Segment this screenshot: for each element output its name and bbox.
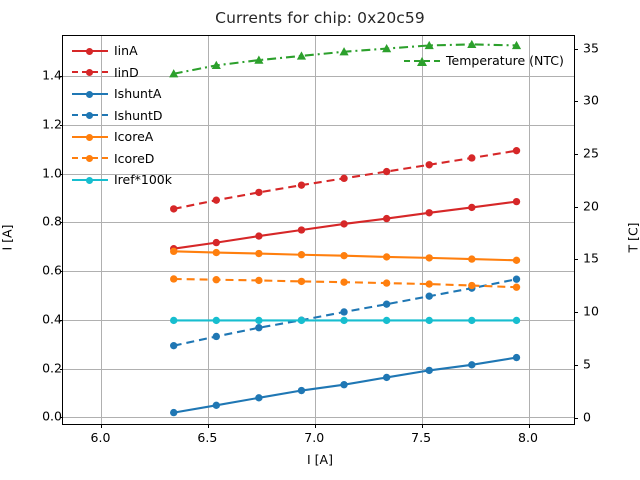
legend-item-label: Iref*100k [114, 172, 172, 187]
data-point [468, 282, 475, 289]
legend-swatch-icon [72, 66, 108, 78]
data-point [255, 250, 262, 257]
y-ticklabel-left: 1.0 [42, 165, 62, 180]
y-ticklabel-left: 0.4 [42, 311, 62, 326]
x-tick [315, 424, 316, 428]
y-ticklabel-right: 25 [583, 146, 599, 161]
matplotlib-figure: Currents for chip: 0x20c59 0.00.20.40.60… [0, 0, 640, 480]
legend-currents: IinAIinDIshuntAIshuntDIcoreAIcoreDIref*1… [72, 40, 172, 191]
data-point [383, 317, 390, 324]
x-axis-title: I [A] [0, 452, 640, 467]
data-point [213, 249, 220, 256]
y-tick-right [574, 49, 578, 50]
y-tick-right [574, 207, 578, 208]
data-point [298, 251, 305, 258]
y-axis-title-right: T [C] [626, 158, 640, 318]
data-point [383, 168, 390, 175]
y-tick-right [574, 154, 578, 155]
data-point [298, 181, 305, 188]
data-point [468, 317, 475, 324]
legend-item-iina[interactable]: IinA [72, 40, 172, 62]
y-ticklabel-left: 0.0 [42, 409, 62, 424]
y-ticklabel-left: 0.6 [42, 263, 62, 278]
x-tick [529, 424, 530, 428]
data-point [170, 275, 177, 282]
data-point [298, 226, 305, 233]
data-point [255, 394, 262, 401]
legend-item-label: IshuntA [114, 86, 161, 101]
data-point [255, 317, 262, 324]
data-point [426, 293, 433, 300]
data-point [170, 342, 177, 349]
data-point [513, 147, 520, 154]
data-point [468, 361, 475, 368]
data-point [213, 333, 220, 340]
y-tick-right [574, 365, 578, 366]
y-axis-title-left: I [A] [0, 158, 15, 318]
legend-item-label: IcoreD [114, 151, 154, 166]
legend-item-temperature-ntc[interactable]: Temperature (NTC) [404, 50, 564, 72]
legend-item-ishuntd[interactable]: IshuntD [72, 105, 172, 127]
data-point [426, 280, 433, 287]
y-ticklabel-right: 35 [583, 40, 599, 55]
x-ticklabel: 7.5 [411, 430, 431, 445]
legend-item-iref-100k[interactable]: Iref*100k [72, 169, 172, 191]
data-point [468, 154, 475, 161]
y-ticklabel-right: 10 [583, 304, 599, 319]
y-tick-right [574, 101, 578, 102]
data-point [513, 317, 520, 324]
y-tick-right [574, 312, 578, 313]
legend-swatch-icon [72, 131, 108, 143]
y-ticklabel-right: 0 [583, 409, 591, 424]
data-point [298, 387, 305, 394]
x-tick [101, 424, 102, 428]
data-point [340, 220, 347, 227]
y-ticklabel-right: 5 [583, 356, 591, 371]
y-ticklabel-left: 1.2 [42, 116, 62, 131]
legend-swatch-icon [72, 152, 108, 164]
page-title: Currents for chip: 0x20c59 [0, 9, 640, 27]
legend-item-iind[interactable]: IinD [72, 62, 172, 84]
data-point [426, 317, 433, 324]
data-point [383, 215, 390, 222]
data-point [170, 205, 177, 212]
data-point [213, 196, 220, 203]
data-point [426, 161, 433, 168]
data-point [340, 278, 347, 285]
y-ticklabel-left: 0.2 [42, 360, 62, 375]
legend-temperature: Temperature (NTC) [404, 50, 564, 72]
data-point [340, 175, 347, 182]
data-point [255, 189, 262, 196]
series-ishuntd [170, 276, 520, 350]
x-ticklabel: 7.0 [304, 430, 324, 445]
data-point [513, 354, 520, 361]
legend-item-label: IinA [114, 43, 138, 58]
legend-item-ishunta[interactable]: IshuntA [72, 83, 172, 105]
data-point [468, 204, 475, 211]
data-point [513, 276, 520, 283]
y-tick-right [574, 418, 578, 419]
data-point [255, 277, 262, 284]
data-point [426, 254, 433, 261]
y-ticklabel-left: 1.4 [42, 68, 62, 83]
series-ishunta [170, 354, 520, 416]
legend-swatch-icon [72, 109, 108, 121]
data-point [298, 317, 305, 324]
data-point [298, 278, 305, 285]
data-point [513, 284, 520, 291]
y-ticklabel-right: 15 [583, 251, 599, 266]
series-iina [170, 198, 520, 252]
y-ticklabel-left: 0.8 [42, 214, 62, 229]
legend-swatch-icon [72, 45, 108, 57]
series-iind [170, 147, 520, 213]
data-point [383, 301, 390, 308]
x-tick [422, 424, 423, 428]
legend-item-label: IshuntD [114, 108, 163, 123]
data-point [383, 253, 390, 260]
y-tick-right [574, 259, 578, 260]
y-ticklabel-right: 20 [583, 198, 599, 213]
legend-item-icorea[interactable]: IcoreA [72, 126, 172, 148]
legend-item-label: IcoreA [114, 129, 153, 144]
data-point [170, 409, 177, 416]
data-point [170, 248, 177, 255]
data-point [513, 198, 520, 205]
data-point [213, 276, 220, 283]
y-ticklabel-right: 30 [583, 93, 599, 108]
data-point [170, 317, 177, 324]
data-point [426, 209, 433, 216]
x-ticklabel: 6.0 [91, 430, 111, 445]
legend-swatch-icon [72, 174, 108, 186]
data-point [383, 374, 390, 381]
data-point [468, 255, 475, 262]
data-point [213, 402, 220, 409]
legend-item-label: IinD [114, 65, 139, 80]
data-point [340, 308, 347, 315]
legend-item-icored[interactable]: IcoreD [72, 148, 172, 170]
x-ticklabel: 8.0 [518, 430, 538, 445]
data-point [255, 232, 262, 239]
data-point [513, 257, 520, 264]
series-icorea [170, 248, 520, 264]
legend-swatch-icon [404, 55, 440, 67]
data-point [213, 317, 220, 324]
data-point [213, 239, 220, 246]
data-point [426, 367, 433, 374]
data-point [340, 317, 347, 324]
data-point [340, 381, 347, 388]
data-point-triangle [297, 51, 306, 59]
legend-item-label: Temperature (NTC) [446, 53, 564, 68]
series-iref-100k [170, 317, 520, 324]
data-point [383, 279, 390, 286]
x-ticklabel: 6.5 [197, 430, 217, 445]
data-point [255, 324, 262, 331]
data-point [340, 252, 347, 259]
legend-swatch-icon [72, 88, 108, 100]
x-tick [208, 424, 209, 428]
